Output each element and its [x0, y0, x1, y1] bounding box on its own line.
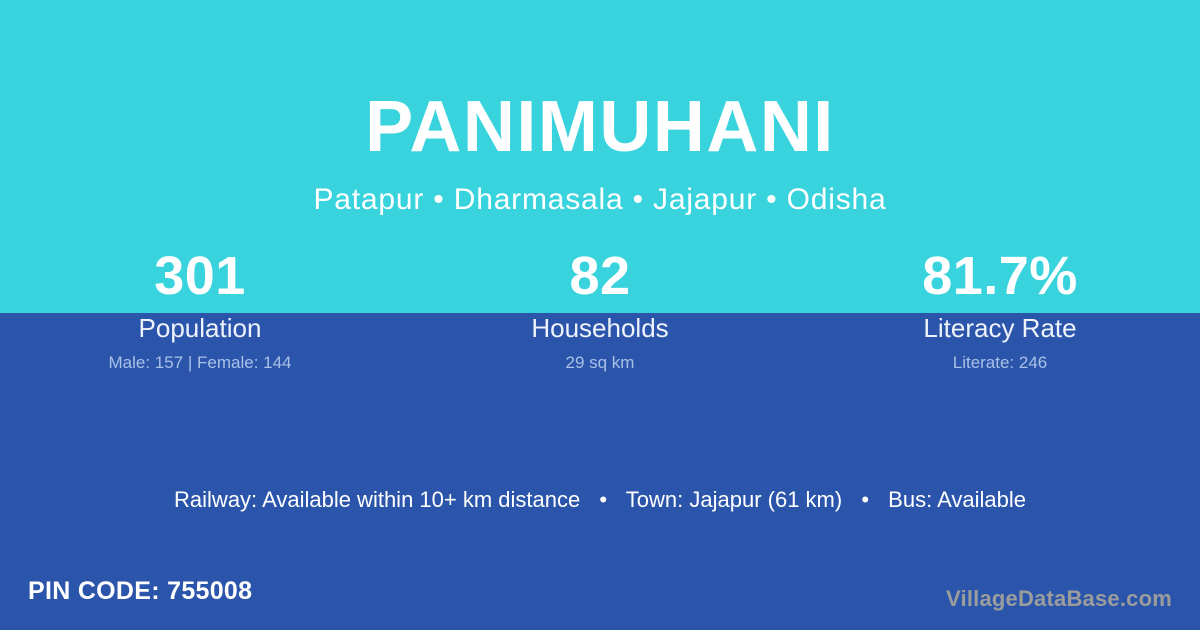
- pin-code: PIN CODE: 755008: [28, 576, 252, 606]
- village-info-card: PANIMUHANI Patapur • Dharmasala • Jajapu…: [0, 0, 1200, 630]
- site-watermark: VillageDataBase.com: [946, 586, 1172, 612]
- amenity-separator: •: [586, 485, 620, 515]
- stat-label: Literacy Rate: [800, 313, 1200, 343]
- page-title: PANIMUHANI: [0, 86, 1200, 168]
- amenity-bus: Bus: Available: [888, 487, 1026, 512]
- stat-label: Population: [0, 313, 400, 343]
- amenity-railway: Railway: Available within 10+ km distanc…: [174, 487, 580, 512]
- stat-value: 81.7%: [800, 247, 1200, 305]
- stat-sublabel: Literate: 246: [800, 353, 1200, 373]
- stat-label: Households: [400, 313, 800, 343]
- stat-value: 82: [400, 247, 800, 305]
- amenities-line: Railway: Available within 10+ km distanc…: [0, 485, 1200, 515]
- stat-population: 301 Population Male: 157 | Female: 144: [0, 247, 400, 373]
- stat-sublabel: 29 sq km: [400, 353, 800, 373]
- stat-value: 301: [0, 247, 400, 305]
- amenity-separator: •: [848, 485, 882, 515]
- stat-sublabel: Male: 157 | Female: 144: [0, 353, 400, 373]
- location-breadcrumb: Patapur • Dharmasala • Jajapur • Odisha: [0, 182, 1200, 218]
- amenity-town: Town: Jajapur (61 km): [626, 487, 842, 512]
- stat-literacy-rate: 81.7% Literacy Rate Literate: 246: [800, 247, 1200, 373]
- stat-households: 82 Households 29 sq km: [400, 247, 800, 373]
- stats-row: 301 Population Male: 157 | Female: 144 8…: [0, 247, 1200, 373]
